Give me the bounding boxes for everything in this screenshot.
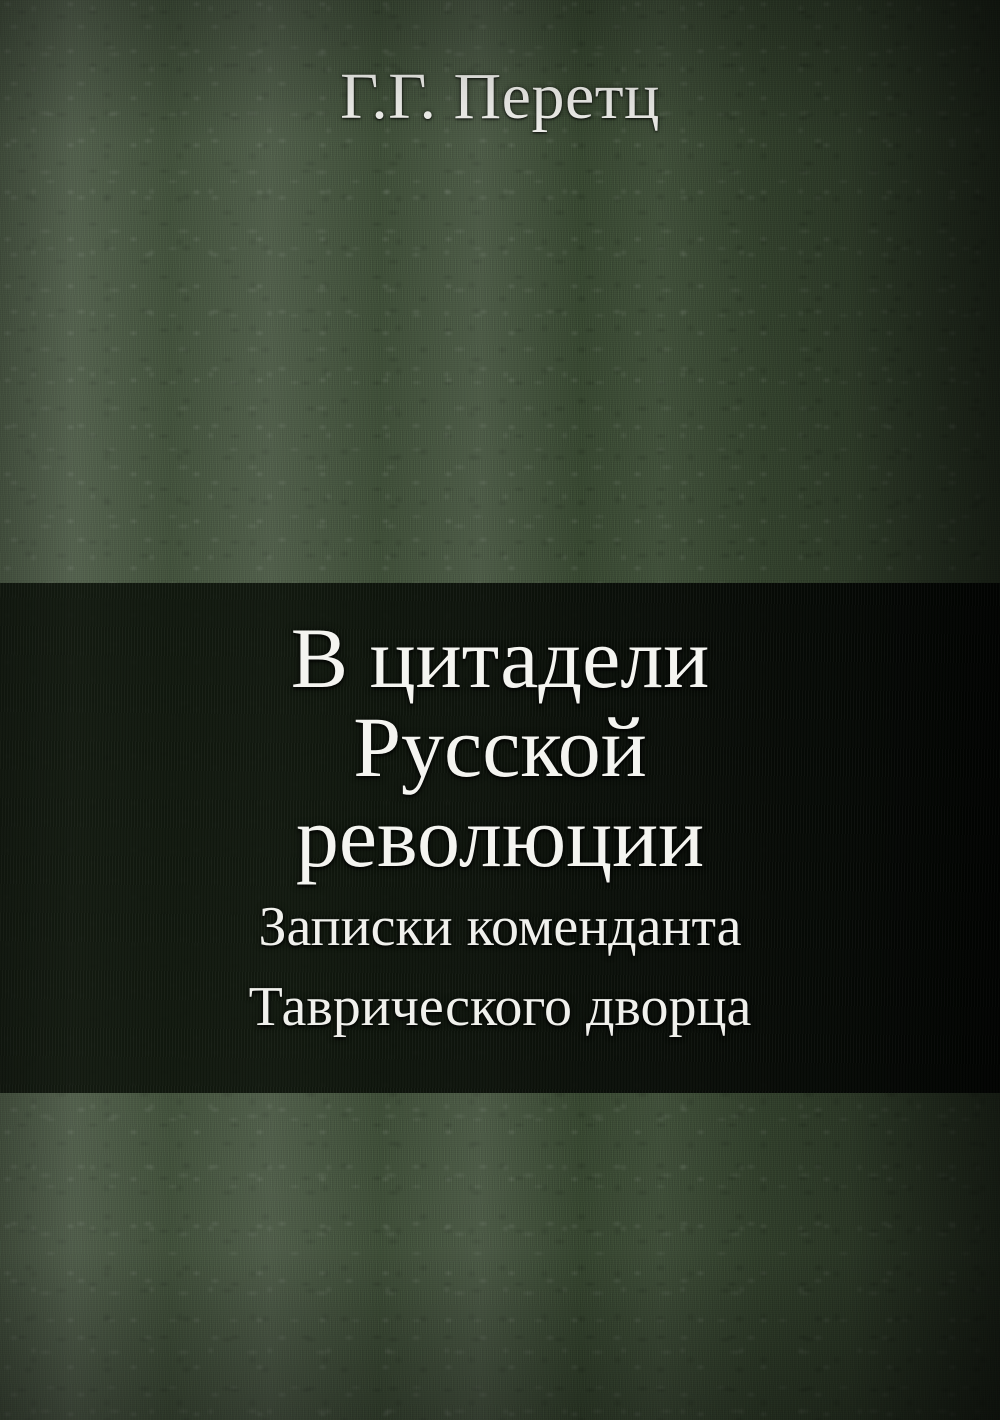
subtitle-line-1: Записки коменданта: [0, 888, 1000, 968]
book-cover: Г.Г. Перетц В цитадели Русской революции…: [0, 0, 1000, 1420]
book-subtitle: Записки коменданта Таврического дворца: [0, 888, 1000, 1047]
subtitle-line-2: Таврического дворца: [0, 968, 1000, 1048]
author-name: Г.Г. Перетц: [0, 64, 1000, 130]
title-line-2: Русской: [0, 703, 1000, 792]
title-line-1: В цитадели: [0, 614, 1000, 703]
book-title: В цитадели Русской революции: [0, 614, 1000, 882]
title-line-3: революции: [0, 793, 1000, 882]
